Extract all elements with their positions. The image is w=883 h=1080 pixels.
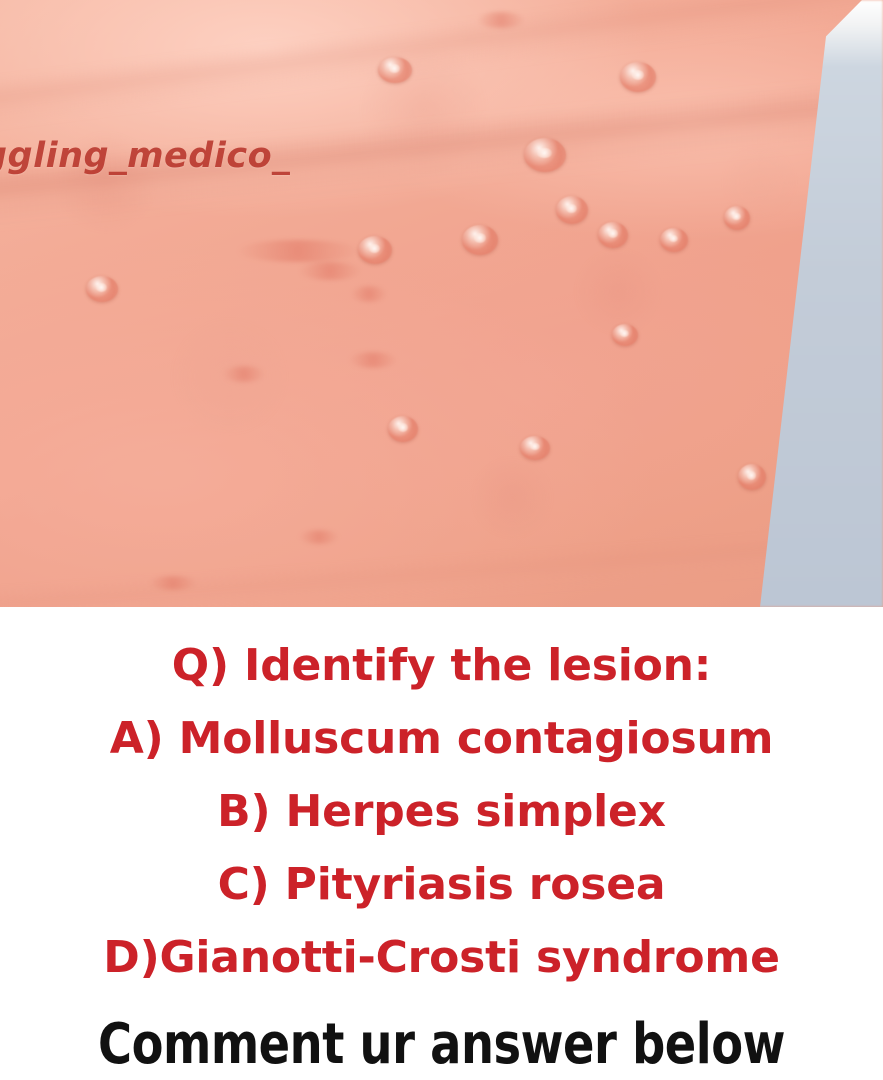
skin-papule (738, 464, 766, 490)
skin-macule (224, 366, 264, 382)
skin-papule (520, 436, 550, 460)
skin-papule (620, 62, 656, 92)
skin-papule (86, 276, 118, 302)
skin-macule (300, 530, 338, 544)
skin-papule (524, 138, 566, 172)
quiz-question: Q) Identify the lesion: (0, 629, 883, 702)
skin-papule (612, 324, 638, 346)
skin-macule (352, 286, 386, 302)
skin-macule (300, 262, 360, 280)
quiz-option-b[interactable]: B) Herpes simplex (0, 775, 883, 848)
quiz-option-d[interactable]: D)Gianotti-Crosti syndrome (0, 921, 883, 994)
skin-papule (388, 416, 418, 442)
skin-papule (598, 222, 628, 248)
skin-papule (462, 225, 498, 255)
quiz-post-card: ggling_medico_ Q) Identify the lesion: A… (0, 0, 883, 1080)
quiz-option-c[interactable]: C) Pityriasis rosea (0, 848, 883, 921)
skin-papule (378, 57, 412, 83)
skin-macule (350, 352, 396, 368)
skin-papule (724, 206, 750, 230)
photo-watermark: ggling_medico_ (0, 136, 290, 176)
skin-papule (660, 228, 688, 252)
clinical-photo: ggling_medico_ (0, 0, 883, 607)
skin-papule (556, 196, 588, 224)
comment-cta-text: Comment ur answer below (35, 1014, 847, 1076)
skin-macule (478, 12, 524, 28)
quiz-panel: Q) Identify the lesion: A) Molluscum con… (0, 607, 883, 1080)
skin-macule (238, 240, 358, 262)
skin-papule (358, 236, 392, 264)
quiz-option-a[interactable]: A) Molluscum contagiosum (0, 702, 883, 775)
skin-macule (150, 576, 196, 590)
